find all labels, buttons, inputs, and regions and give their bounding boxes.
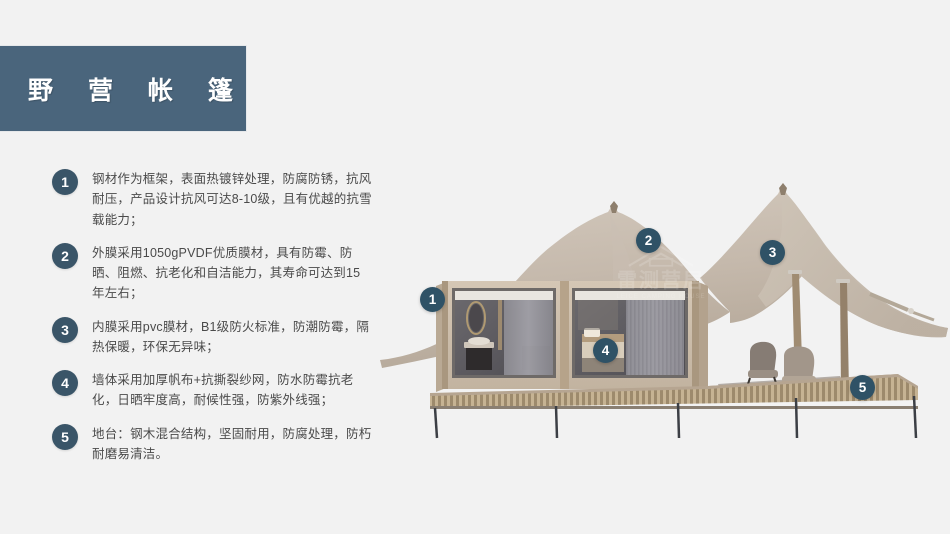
feature-list: 1 钢材作为框架，表面热镀锌处理，防腐防锈，抗风耐压，产品设计抗风可达8-10级…	[52, 168, 372, 464]
deck-leg-5	[914, 396, 916, 438]
feature-text-3: 内膜采用pvc膜材，B1级防火标准，防潮防霉，隔热保暖，环保无异味；	[92, 316, 372, 358]
window-valance-left	[455, 291, 553, 300]
deck-leg-3	[678, 403, 679, 438]
deck-leg-1	[435, 408, 437, 438]
page-title: 野 营 帐 篷	[0, 71, 247, 107]
list-item: 4 墙体采用加厚帆布+抗撕裂纱网，防水防霉抗老化，日晒牢度高，耐候性强，防紫外线…	[52, 369, 372, 411]
feature-badge-5: 5	[52, 424, 78, 450]
window-valance-right	[575, 291, 685, 300]
deck-shadow-line	[430, 406, 918, 409]
feature-text-1: 钢材作为框架，表面热镀锌处理，防腐防锈，抗风耐压，产品设计抗风可达8-10级，且…	[92, 168, 372, 230]
guy-fitting	[908, 308, 914, 314]
window-bedroom	[572, 288, 688, 378]
bedroom-backwall	[578, 300, 618, 330]
feature-text-5: 地台：钢木混合结构，坚固耐用，防腐处理，防朽耐磨易清洁。	[92, 423, 372, 465]
illustration-marker-1: 1	[420, 287, 445, 312]
mirror-glass	[469, 304, 483, 332]
list-item: 2 外膜采用1050gPVDF优质膜材，具有防霉、防晒、阻燃、抗老化和自洁能力，…	[52, 242, 372, 304]
feature-badge-1: 1	[52, 169, 78, 195]
fixture-post	[498, 300, 502, 350]
curtain-left-window	[504, 300, 553, 375]
list-item: 5 地台：钢木混合结构，坚固耐用，防腐处理，防朽耐磨易清洁。	[52, 423, 372, 465]
illustration-marker-2: 2	[636, 228, 661, 253]
feature-text-4: 墙体采用加厚帆布+抗撕裂纱网，防水防霉抗老化，日晒牢度高，耐候性强，防紫外线强；	[92, 369, 372, 411]
deck-leg-4	[796, 398, 797, 438]
page-title-banner: 野 营 帐 篷	[0, 45, 247, 132]
feature-badge-4: 4	[52, 370, 78, 396]
list-item: 3 内膜采用pvc膜材，B1级防火标准，防潮防霉，隔热保暖，环保无异味；	[52, 316, 372, 358]
vanity-cabinet	[466, 348, 492, 370]
window-bathroom	[452, 288, 556, 378]
page-root: 野 营 帐 篷 1 钢材作为框架，表面热镀锌处理，防腐防锈，抗风耐压，产品设计抗…	[0, 0, 950, 534]
feature-text-2: 外膜采用1050gPVDF优质膜材，具有防霉、防晒、阻燃、抗老化和自洁能力，其寿…	[92, 242, 372, 304]
pole-fitting-inner	[788, 270, 802, 274]
illustration-marker-4: 4	[593, 338, 618, 363]
deck-leg-2	[556, 406, 557, 438]
chair-a-seat	[748, 370, 778, 378]
corner-post-middle	[560, 281, 569, 389]
illustration-marker-5: 5	[850, 375, 875, 400]
feature-badge-3: 3	[52, 317, 78, 343]
curtain-right-window	[626, 300, 684, 375]
feature-badge-2: 2	[52, 243, 78, 269]
basin-icon	[468, 337, 490, 345]
pole-fitting-outer	[836, 279, 850, 283]
tent-illustration: 雷测营居 LEICE CAMPING HOUSE 1 2 3 4 5	[378, 160, 950, 440]
corner-post-right	[692, 281, 699, 389]
illustration-marker-3: 3	[760, 240, 785, 265]
list-item: 1 钢材作为框架，表面热镀锌处理，防腐防锈，抗风耐压，产品设计抗风可达8-10级…	[52, 168, 372, 230]
